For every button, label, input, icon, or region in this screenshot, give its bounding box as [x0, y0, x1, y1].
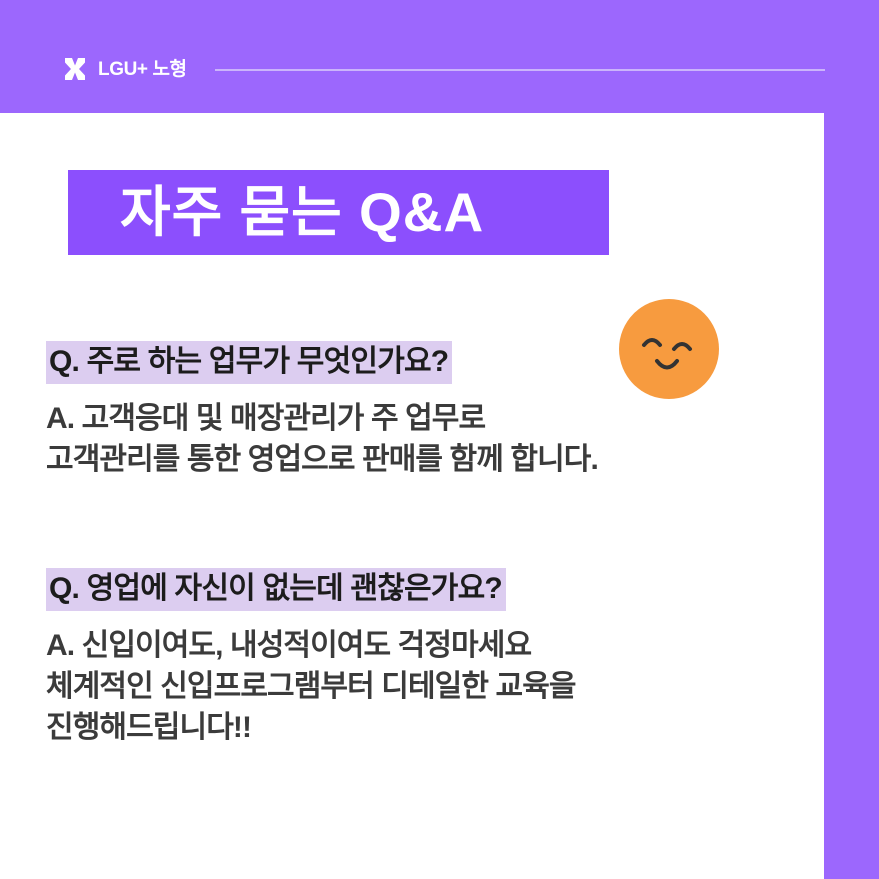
- faq-question: Q. 영업에 자신이 없는데 괜찮은가요?: [46, 568, 506, 611]
- smiling-face-icon: [619, 299, 719, 399]
- lgu-x-logo-icon: [62, 56, 88, 82]
- smiley-features: [619, 299, 719, 399]
- title-banner: 자주 묻는 Q&A: [68, 170, 609, 255]
- faq-answer: A. 신입이여도, 내성적이여도 걱정마세요 체계적인 신입프로그램부터 디테일…: [46, 625, 576, 748]
- faq-answer-line: A. 고객응대 및 매장관리가 주 업무로: [46, 398, 598, 439]
- brand-lockup: LGU+ 노형: [62, 54, 187, 84]
- faq-poster: LGU+ 노형 자주 묻는 Q&A Q. 주로 하는 업무가 무엇인가요? A.…: [0, 0, 879, 879]
- faq-item: Q. 영업에 자신이 없는데 괜찮은가요? A. 신입이여도, 내성적이여도 걱…: [46, 568, 576, 748]
- faq-answer: A. 고객응대 및 매장관리가 주 업무로 고객관리를 통한 영업으로 판매를 …: [46, 398, 598, 480]
- faq-item: Q. 주로 하는 업무가 무엇인가요? A. 고객응대 및 매장관리가 주 업무…: [46, 341, 598, 480]
- faq-answer-line: 체계적인 신입프로그램부터 디테일한 교육을: [46, 666, 576, 707]
- faq-question-row: Q. 영업에 자신이 없는데 괜찮은가요?: [46, 568, 576, 611]
- page-title: 자주 묻는 Q&A: [68, 185, 484, 240]
- faq-question-row: Q. 주로 하는 업무가 무엇인가요?: [46, 341, 598, 384]
- faq-answer-line: A. 신입이여도, 내성적이여도 걱정마세요: [46, 625, 576, 666]
- faq-question: Q. 주로 하는 업무가 무엇인가요?: [46, 341, 452, 384]
- faq-answer-line: 고객관리를 통한 영업으로 판매를 함께 합니다.: [46, 439, 598, 480]
- faq-answer-line: 진행해드립니다!!: [46, 707, 576, 748]
- header-divider-line: [215, 69, 825, 71]
- content-card: 자주 묻는 Q&A Q. 주로 하는 업무가 무엇인가요? A. 고객응대 및 …: [0, 113, 824, 879]
- brand-name: LGU+ 노형: [98, 60, 187, 79]
- poster-header: LGU+ 노형: [0, 0, 879, 113]
